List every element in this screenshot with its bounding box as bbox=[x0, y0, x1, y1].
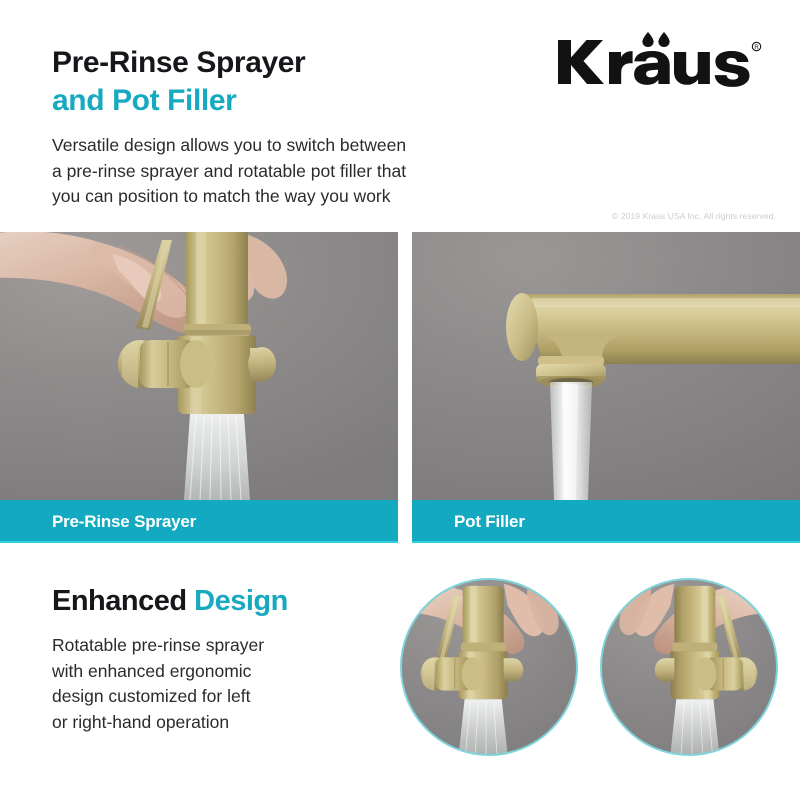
circle-photo-content bbox=[402, 580, 576, 754]
subcopy-line-1: Versatile design allows you to switch be… bbox=[52, 133, 512, 159]
photo-pot-filler bbox=[412, 232, 800, 500]
photo-pre-rinse-sprayer bbox=[0, 232, 398, 500]
header-section: Pre-Rinse Sprayer and Pot Filler Versati… bbox=[0, 0, 800, 232]
caption-label: Pot Filler bbox=[454, 512, 525, 532]
enhanced-body-line-3: design customized for left bbox=[52, 684, 392, 710]
registered-trademark-icon: R bbox=[752, 42, 760, 51]
water-stream bbox=[550, 382, 592, 500]
headline-line-2: and Pot Filler bbox=[52, 82, 532, 120]
water-spray bbox=[670, 699, 719, 754]
water-spray bbox=[459, 699, 508, 754]
svg-text:R: R bbox=[754, 45, 759, 51]
enhanced-design-title: Enhanced Design bbox=[52, 583, 392, 619]
caption-bar-pre-rinse-sprayer: Pre-Rinse Sprayer bbox=[0, 500, 398, 543]
sprayer-rotating-knob bbox=[421, 657, 484, 690]
photo-panels bbox=[0, 232, 800, 500]
header-description: Versatile design allows you to switch be… bbox=[52, 133, 512, 210]
caption-bar-pot-filler: Pot Filler bbox=[412, 500, 800, 543]
kraus-logo: R bbox=[556, 30, 772, 92]
enhanced-body-line-4: or right-hand operation bbox=[52, 710, 392, 736]
enhanced-design-description: Rotatable pre-rinse sprayer with enhance… bbox=[52, 633, 392, 735]
sprayer-rotating-knob bbox=[118, 340, 212, 388]
subcopy-line-2: a pre-rinse sprayer and rotatable pot fi… bbox=[52, 159, 512, 185]
pot-filler-arm bbox=[506, 293, 800, 364]
subcopy-line-3: you can position to match the way you wo… bbox=[52, 184, 512, 210]
copyright-notice: © 2019 Kraus USA Inc. All rights reserve… bbox=[552, 211, 776, 221]
enhanced-body-line-2: with enhanced ergonomic bbox=[52, 659, 392, 685]
water-spray bbox=[184, 414, 250, 500]
caption-label: Pre-Rinse Sprayer bbox=[52, 512, 196, 532]
circle-photo-right-hand bbox=[600, 578, 778, 756]
enhanced-design-section: Enhanced Design Rotatable pre-rinse spra… bbox=[52, 583, 392, 735]
page-title: Pre-Rinse Sprayer and Pot Filler bbox=[52, 44, 532, 120]
infographic-page: Pre-Rinse Sprayer and Pot Filler Versati… bbox=[0, 0, 800, 800]
sprayer-rotating-knob bbox=[695, 657, 758, 690]
enhanced-body-line-1: Rotatable pre-rinse sprayer bbox=[52, 633, 392, 659]
circle-photo-left-hand bbox=[400, 578, 578, 756]
enhanced-title-dark: Enhanced bbox=[52, 585, 187, 617]
headline-line-1: Pre-Rinse Sprayer bbox=[52, 44, 532, 82]
enhanced-title-accent: Design bbox=[194, 585, 288, 617]
circle-photo-content bbox=[602, 580, 776, 754]
